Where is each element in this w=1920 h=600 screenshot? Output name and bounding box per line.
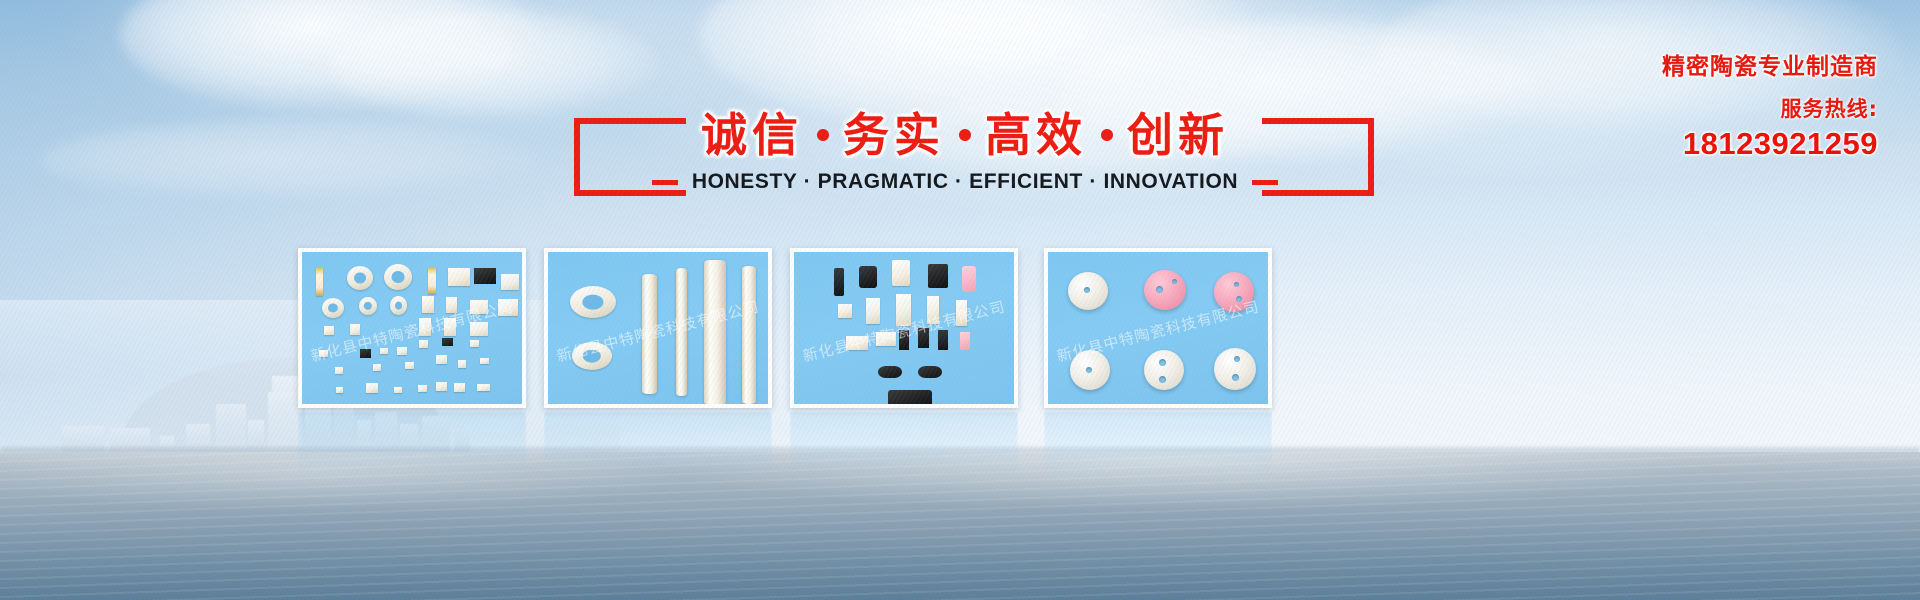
product-photo: 新化县中特陶瓷科技有限公司 — [548, 252, 768, 404]
dash-right-decoration — [1252, 180, 1278, 185]
company-tagline: 精密陶瓷专业制造商 — [1662, 52, 1878, 82]
product-panel-blocks-fittings[interactable]: 新化县中特陶瓷科技有限公司 — [790, 248, 1018, 408]
slogan-english: HONESTY · PRAGMATIC · EFFICIENT · INNOVA… — [692, 170, 1238, 194]
panel-reflection — [790, 412, 1018, 486]
slogan-word-4: 创新 — [1127, 108, 1229, 162]
slogan-word-3: 高效 — [985, 108, 1087, 162]
slogan-separator-dot — [1101, 129, 1113, 141]
contact-block: 精密陶瓷专业制造商 服务热线: 18123921259 — [1662, 52, 1878, 162]
hotline-phone[interactable]: 18123921259 — [1662, 126, 1878, 162]
slogan-word-1: 诚信 — [701, 108, 803, 162]
product-photo: 新化县中特陶瓷科技有限公司 — [1048, 252, 1268, 404]
product-photo: 新化县中特陶瓷科技有限公司 — [794, 252, 1014, 404]
slogan-separator-dot — [817, 129, 829, 141]
slogan-separator-dot — [959, 129, 971, 141]
product-panel-tubes-rings[interactable]: 新化县中特陶瓷科技有限公司 — [544, 248, 772, 408]
slogan-english-row: HONESTY · PRAGMATIC · EFFICIENT · INNOVA… — [560, 170, 1370, 194]
dash-left-decoration — [652, 180, 678, 185]
panel-reflection — [544, 412, 772, 486]
panel-reflection — [1044, 412, 1272, 486]
hotline-label: 服务热线: — [1662, 94, 1878, 124]
slogan-chinese: 诚信务实高效创新 — [560, 104, 1370, 166]
product-photo: 新化县中特陶瓷科技有限公司 — [302, 252, 522, 404]
product-panel-discs-caps[interactable]: 新化县中特陶瓷科技有限公司 — [1044, 248, 1272, 408]
product-panel-smd-components[interactable]: 新化县中特陶瓷科技有限公司 — [298, 248, 526, 408]
panel-reflection — [298, 412, 526, 486]
slogan-word-2: 务实 — [843, 108, 945, 162]
cloud-shape — [40, 120, 540, 200]
promo-banner: 诚信务实高效创新 HONESTY · PRAGMATIC · EFFICIENT… — [0, 0, 1920, 600]
slogan-block: 诚信务实高效创新 HONESTY · PRAGMATIC · EFFICIENT… — [560, 104, 1370, 214]
